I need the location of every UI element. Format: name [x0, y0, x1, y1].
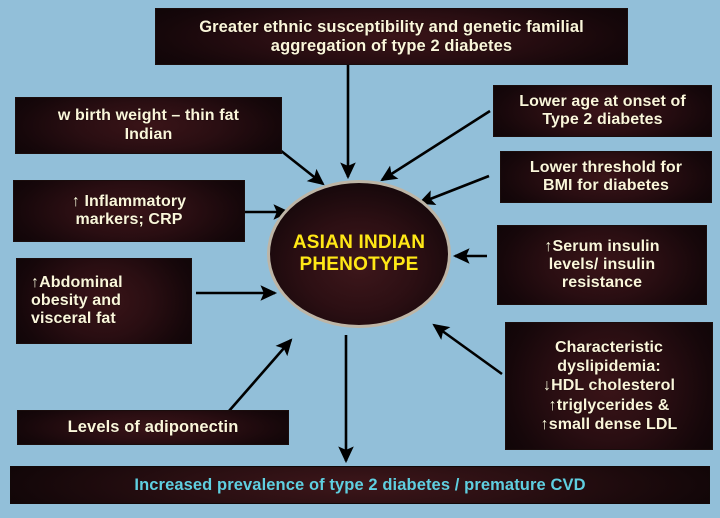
- outcome-banner: Increased prevalence of type 2 diabetes …: [10, 466, 710, 504]
- node-abdominal-obesity: ↑Abdominal obesity and visceral fat: [16, 258, 192, 344]
- node-adiponectin: Levels of adiponectin: [17, 410, 289, 445]
- center-node-asian-indian-phenotype: ASIAN INDIAN PHENOTYPE: [267, 180, 451, 328]
- node-genetic-susceptibility: Greater ethnic susceptibility and geneti…: [155, 8, 628, 65]
- node-serum-insulin: ↑Serum insulin levels/ insulin resistanc…: [497, 225, 707, 305]
- node-low-birth-weight: w birth weight – thin fat Indian: [15, 97, 282, 154]
- node-lower-bmi-threshold: Lower threshold for BMI for diabetes: [500, 151, 712, 203]
- node-lower-age-onset: Lower age at onset of Type 2 diabetes: [493, 85, 712, 137]
- node-dyslipidemia: Characteristic dyslipidemia: ↓HDL choles…: [505, 322, 713, 450]
- node-inflammatory-markers: ↑ Inflammatory markers; CRP: [13, 180, 245, 242]
- diagram-canvas: Greater ethnic susceptibility and geneti…: [0, 0, 720, 518]
